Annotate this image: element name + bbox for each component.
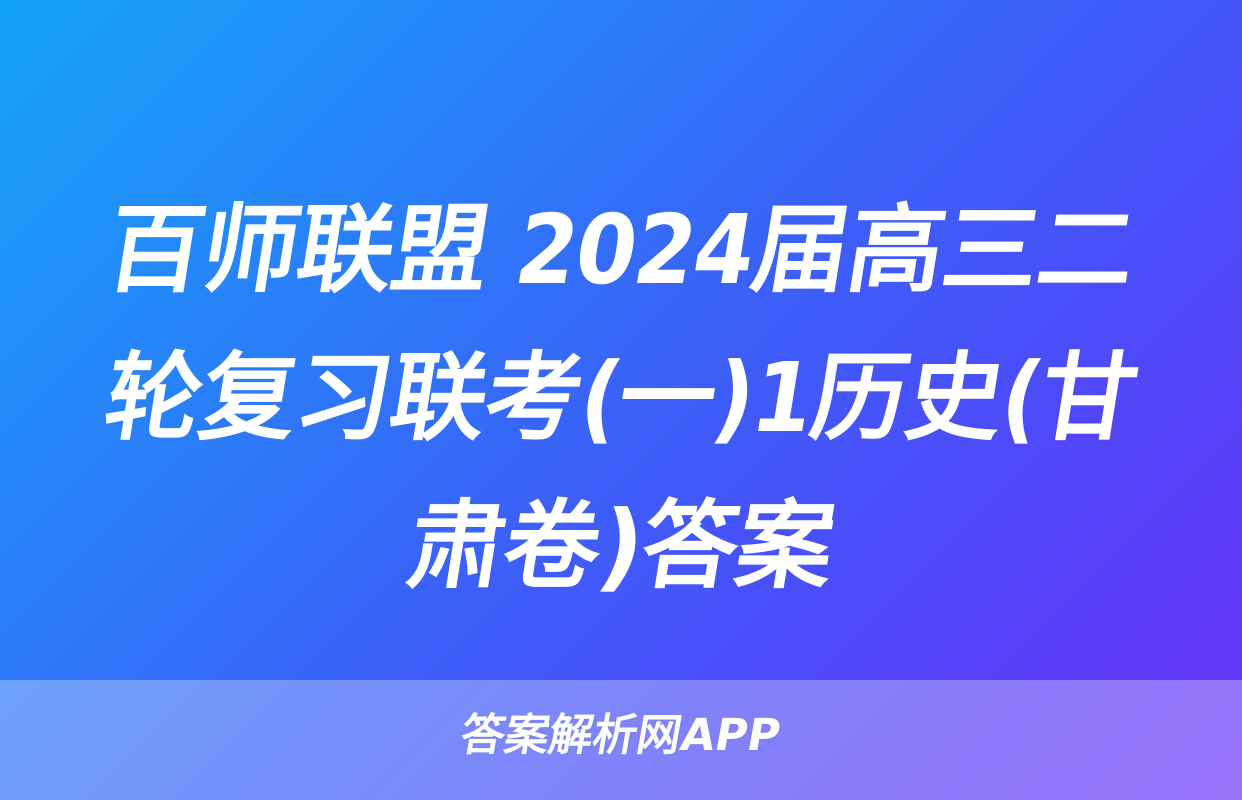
page-title: 百师联盟 2024届高三二 轮复习联考(一)1历史(甘 肃卷)答案 [0, 176, 1242, 620]
title-line-3: 肃卷)答案 [60, 472, 1181, 620]
watermark: 答案解析网APP [0, 700, 1242, 762]
title-line-2: 轮复习联考(一)1历史(甘 [60, 324, 1181, 472]
watermark-text: 答案解析网APP [456, 699, 786, 763]
poster-background: 百师联盟 2024届高三二 轮复习联考(一)1历史(甘 肃卷)答案 答案解析网A… [0, 0, 1242, 800]
title-line-1: 百师联盟 2024届高三二 [60, 176, 1181, 324]
